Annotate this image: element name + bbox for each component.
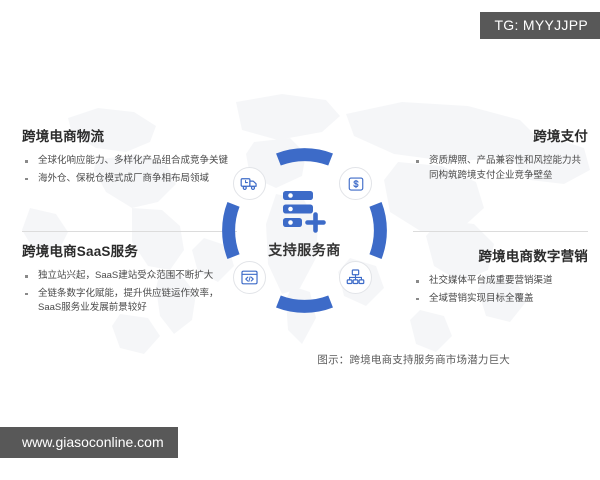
figure-caption: 图示：跨境电商支持服务商市场潜力巨大 [0, 352, 510, 367]
list-item: 全域营销实现目标全覆盖 [413, 292, 588, 307]
server-stack-add-icon [282, 190, 328, 234]
site-watermark-badge: www.giasoconline.com [0, 427, 178, 458]
center-diagram: 支持服务商 [222, 148, 387, 313]
block-saas-bullets: 独立站兴起，SaaS建站受众范围不断扩大 全链条数字化赋能，提升供应链运作效率，… [22, 269, 237, 316]
node-saas[interactable] [233, 261, 266, 294]
block-marketing: 跨境电商数字营销 社交媒体平台成重要营销渠道 全域营销实现目标全覆盖 [413, 245, 588, 309]
delivery-truck-icon [240, 174, 259, 193]
code-window-icon [240, 268, 259, 287]
tg-watermark-badge: TG: MYYJJPP [480, 12, 600, 39]
node-payment[interactable] [339, 167, 372, 200]
network-hierarchy-icon [346, 268, 365, 287]
list-item: 全链条数字化赋能，提升供应链运作效率，SaaS服务业发展前景较好 [22, 287, 237, 316]
block-logistics-title: 跨境电商物流 [22, 125, 237, 145]
list-item: 资质牌照、产品兼容性和风控能力共同构筑跨境支付企业竞争壁垒 [413, 154, 588, 183]
block-logistics: 跨境电商物流 全球化响应能力、多样化产品组合成竞争关键 海外仓、保税仓模式成厂商… [22, 125, 237, 189]
divider-left [22, 231, 237, 232]
node-marketing[interactable] [339, 261, 372, 294]
list-item: 海外仓、保税仓模式成厂商争相布局领域 [22, 172, 237, 187]
block-saas: 跨境电商SaaS服务 独立站兴起，SaaS建站受众范围不断扩大 全链条数字化赋能… [22, 240, 237, 319]
block-payment-title: 跨境支付 [413, 125, 588, 145]
block-logistics-bullets: 全球化响应能力、多样化产品组合成竞争关键 海外仓、保税仓模式成厂商争相布局领域 [22, 154, 237, 186]
block-payment: 跨境支付 资质牌照、产品兼容性和风控能力共同构筑跨境支付企业竞争壁垒 [413, 125, 588, 186]
block-marketing-bullets: 社交媒体平台成重要营销渠道 全域营销实现目标全覆盖 [413, 274, 588, 306]
list-item: 全球化响应能力、多样化产品组合成竞争关键 [22, 154, 237, 169]
divider-right [413, 231, 588, 232]
block-saas-title: 跨境电商SaaS服务 [22, 240, 237, 260]
node-logistics[interactable] [233, 167, 266, 200]
list-item: 独立站兴起，SaaS建站受众范围不断扩大 [22, 269, 237, 284]
block-marketing-title: 跨境电商数字营销 [413, 245, 588, 265]
dollar-square-icon [347, 175, 365, 193]
list-item: 社交媒体平台成重要营销渠道 [413, 274, 588, 289]
block-payment-bullets: 资质牌照、产品兼容性和风控能力共同构筑跨境支付企业竞争壁垒 [413, 154, 588, 183]
diagram-center-label: 支持服务商 [222, 240, 387, 260]
